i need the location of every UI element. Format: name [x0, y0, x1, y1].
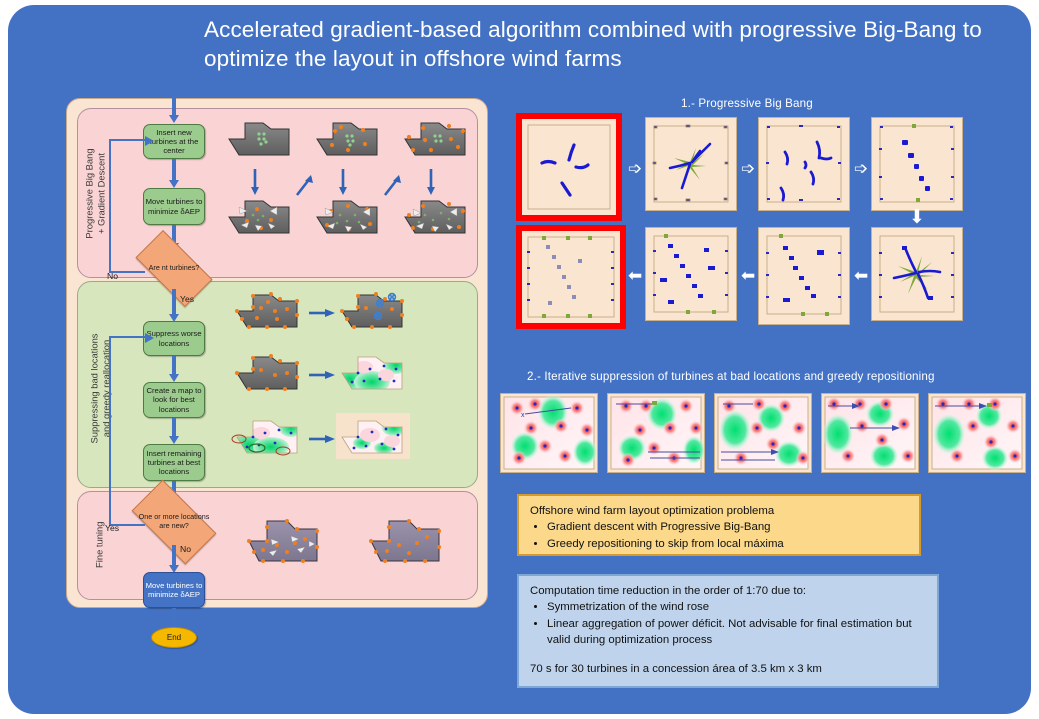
- flow-arrow-left-1: ⬅: [628, 267, 642, 284]
- node-fine-move-turbines: Move turbines to minimize δAEP: [143, 572, 205, 608]
- edge-loop-yes-suppress: [109, 336, 145, 526]
- greedy-panel-5: [928, 393, 1026, 473]
- band-label-bigbang: Progressive Big Bang + Gradient Descent: [84, 119, 107, 269]
- illustration-bigbang-grid: [227, 117, 475, 267]
- illustration-suppression-grid: [225, 289, 473, 481]
- suppression-panel-4: [871, 227, 963, 321]
- decision-label: Are nt turbines?: [139, 249, 209, 288]
- edge-suppress-to-map: [172, 356, 176, 375]
- orange-info-box: Offshore wind farm layout optimization p…: [517, 494, 921, 556]
- orange-box-heading: Offshore wind farm layout optimization p…: [530, 503, 908, 519]
- flow-arrow-left-3: ⬅: [854, 267, 868, 284]
- list-item: Symmetrization of the wind rose: [547, 599, 926, 615]
- edge-map-to-insert-remaining: [172, 418, 176, 437]
- edge-label-yes-2: Yes: [105, 523, 119, 533]
- greedy-panel-1: x: [500, 393, 598, 473]
- blue-box-footer: 70 s for 30 turbines in a concession áre…: [530, 661, 926, 677]
- node-create-map: Create a map to look for best locations: [143, 382, 205, 418]
- flow-arrow-left-2: ⬅: [741, 267, 755, 284]
- bigbang-panel-1: [516, 113, 622, 221]
- node-insert-remaining: Insert remaining turbines at best locati…: [143, 444, 205, 481]
- suppression-panel-2: [645, 227, 737, 321]
- edge-label-no-1: No: [107, 271, 118, 281]
- band-label-finetuning: Fine tuning: [93, 499, 105, 591]
- list-item: Greedy repositioning to skip from local …: [547, 536, 908, 552]
- edge-loop-no-bigbang: [109, 139, 145, 273]
- spacer: [530, 649, 926, 661]
- edge-decision-to-fine: [172, 545, 176, 566]
- node-end: End: [151, 627, 197, 648]
- greedy-panel-3: [714, 393, 812, 473]
- edge-start-to-insert: [172, 94, 176, 116]
- edge-insert-to-move: [172, 159, 176, 181]
- section-2-title: 2.- Iterative suppression of turbines at…: [527, 370, 935, 383]
- flow-arrow-down: ⬇: [909, 209, 925, 226]
- edge-fine-to-end: [172, 608, 176, 623]
- decision-label: One or more locations are new?: [136, 500, 212, 544]
- flow-arrow-right-2: ➩: [741, 160, 755, 177]
- greedy-panel-2: [607, 393, 705, 473]
- slide-page: Accelerated gradient-based algorithm com…: [0, 0, 1039, 719]
- decision-are-nt-turbines: Are nt turbines?: [139, 249, 209, 288]
- page-title: Accelerated gradient-based algorithm com…: [204, 15, 994, 73]
- blue-info-box: Computation time reduction in the order …: [517, 574, 939, 688]
- edge-label-no-2: No: [180, 544, 191, 554]
- decision-locations-new: One or more locations are new?: [136, 500, 212, 544]
- orange-box-bullets: Gradient descent with Progressive Big-Ba…: [530, 519, 908, 552]
- svg-text:x: x: [521, 412, 525, 419]
- flow-arrow-right-1: ➩: [628, 160, 642, 177]
- suppression-panel-3: [758, 227, 850, 325]
- section-1-title: 1.- Progressive Big Bang: [681, 97, 813, 110]
- suppression-panel-1: [516, 225, 626, 329]
- bigbang-panel-4: [871, 117, 963, 211]
- list-item: Gradient descent with Progressive Big-Ba…: [547, 519, 908, 535]
- list-item: Linear aggregation of power déficit. Not…: [547, 616, 926, 649]
- flow-arrow-right-3: ➩: [854, 160, 868, 177]
- illustration-finetuning: [243, 499, 473, 591]
- edge-decision-to-suppress: [172, 289, 176, 315]
- bigbang-panel-2: [645, 117, 737, 211]
- edge-label-yes-1: Yes: [180, 294, 194, 304]
- blue-box-bullets: Symmetrization of the wind rose Linear a…: [530, 599, 926, 648]
- bigbang-panel-3: [758, 117, 850, 211]
- blue-box-heading: Computation time reduction in the order …: [530, 583, 926, 599]
- greedy-panel-4: [821, 393, 919, 473]
- slide-canvas: Accelerated gradient-based algorithm com…: [8, 5, 1031, 714]
- node-move-turbines-minimize: Move turbines to minimize δAEP: [143, 188, 205, 225]
- flowchart-card: Progressive Big Bang + Gradient Descent …: [66, 98, 488, 608]
